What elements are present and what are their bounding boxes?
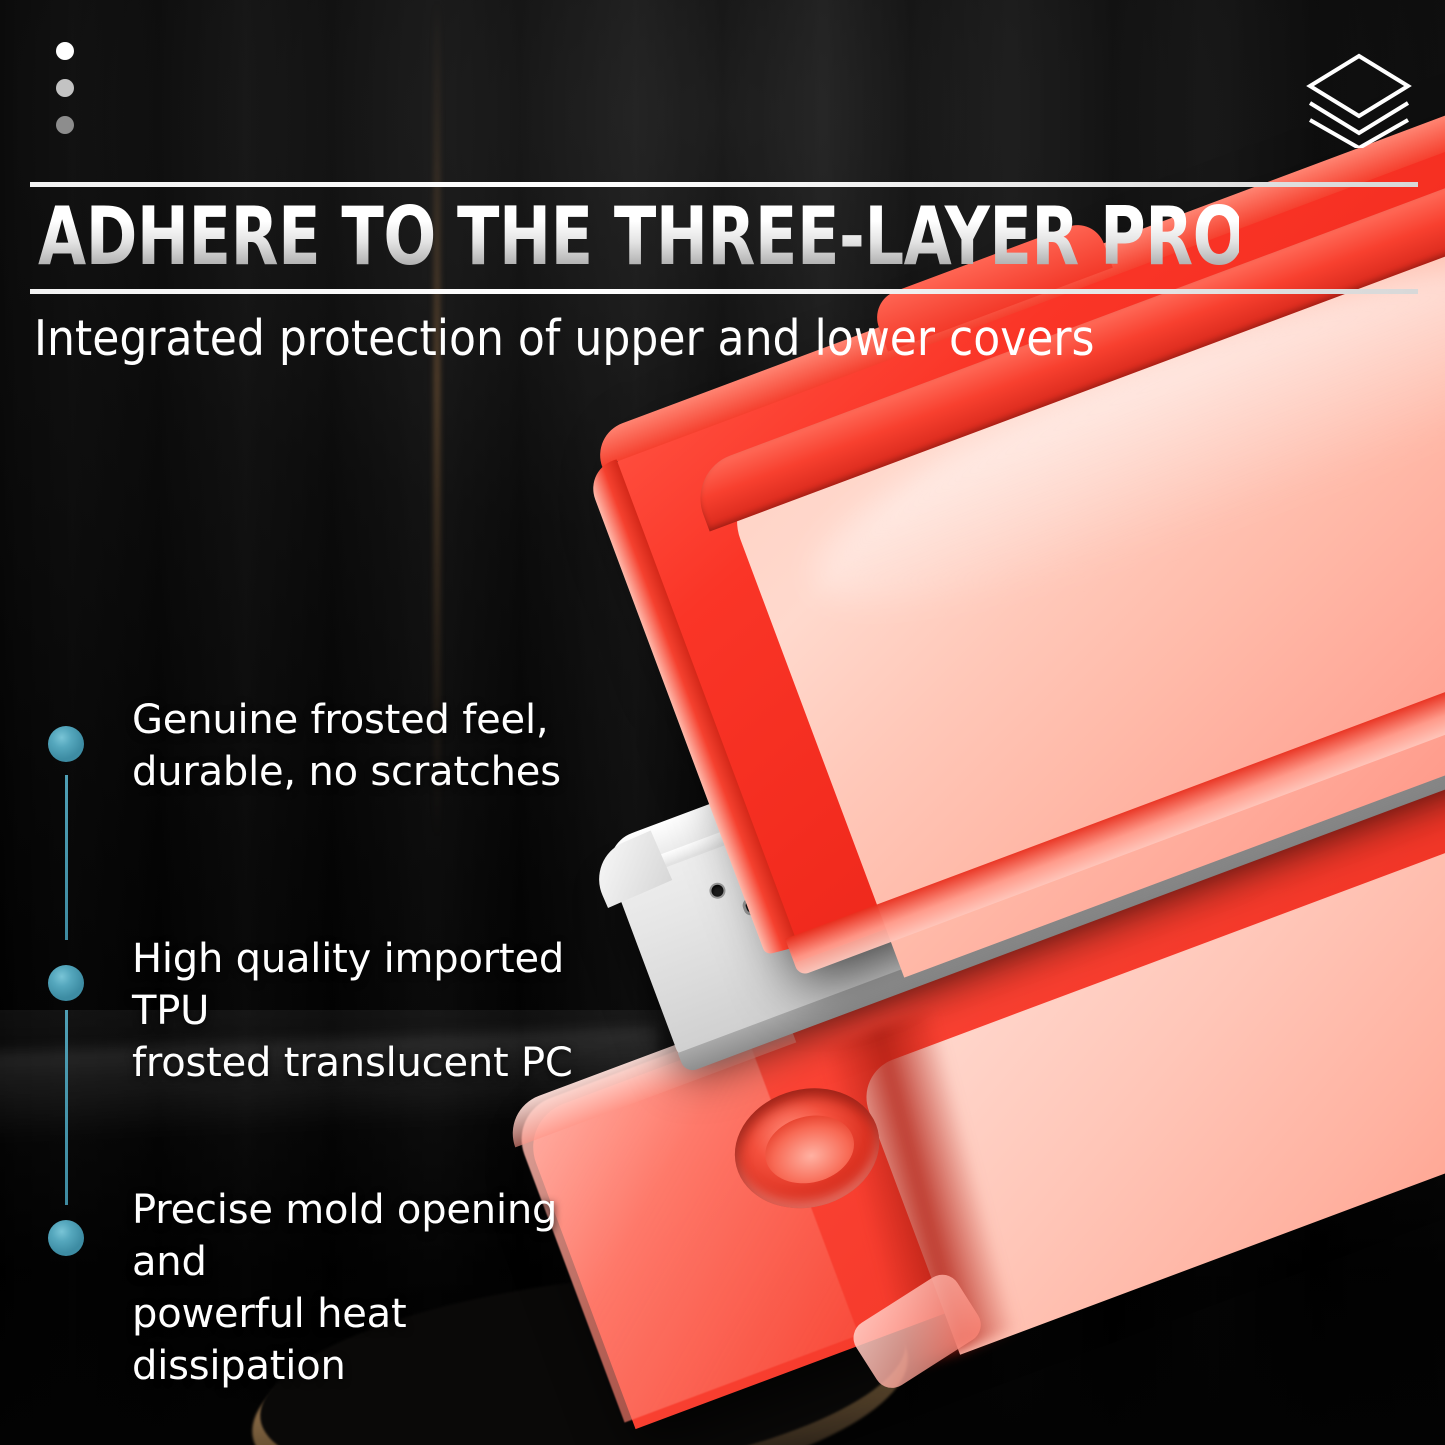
feature-list: Genuine frosted feel, durable, no scratc… xyxy=(0,0,600,1445)
feature-label-1: Genuine frosted feel, durable, no scratc… xyxy=(132,694,561,798)
product-marketing-poster: ADHERE TO THE THREE-LAYER PROCESS Integr… xyxy=(0,0,1445,1445)
feature-label-2: High quality imported TPU frosted transl… xyxy=(132,933,600,1089)
bullet-dot-icon-2 xyxy=(48,965,84,1001)
bullet-dot-icon-3 xyxy=(48,1220,84,1256)
feature-item-1: Genuine frosted feel, durable, no scratc… xyxy=(48,694,561,798)
feature-label-3: Precise mold opening and powerful heat d… xyxy=(132,1184,600,1392)
feature-connector-line-1 xyxy=(65,775,68,940)
bullet-dot-icon-1 xyxy=(48,726,84,762)
stacked-layers-icon xyxy=(1305,48,1413,148)
feature-item-2: High quality imported TPU frosted transl… xyxy=(48,933,600,1089)
feature-item-3: Precise mold opening and powerful heat d… xyxy=(48,1184,600,1392)
